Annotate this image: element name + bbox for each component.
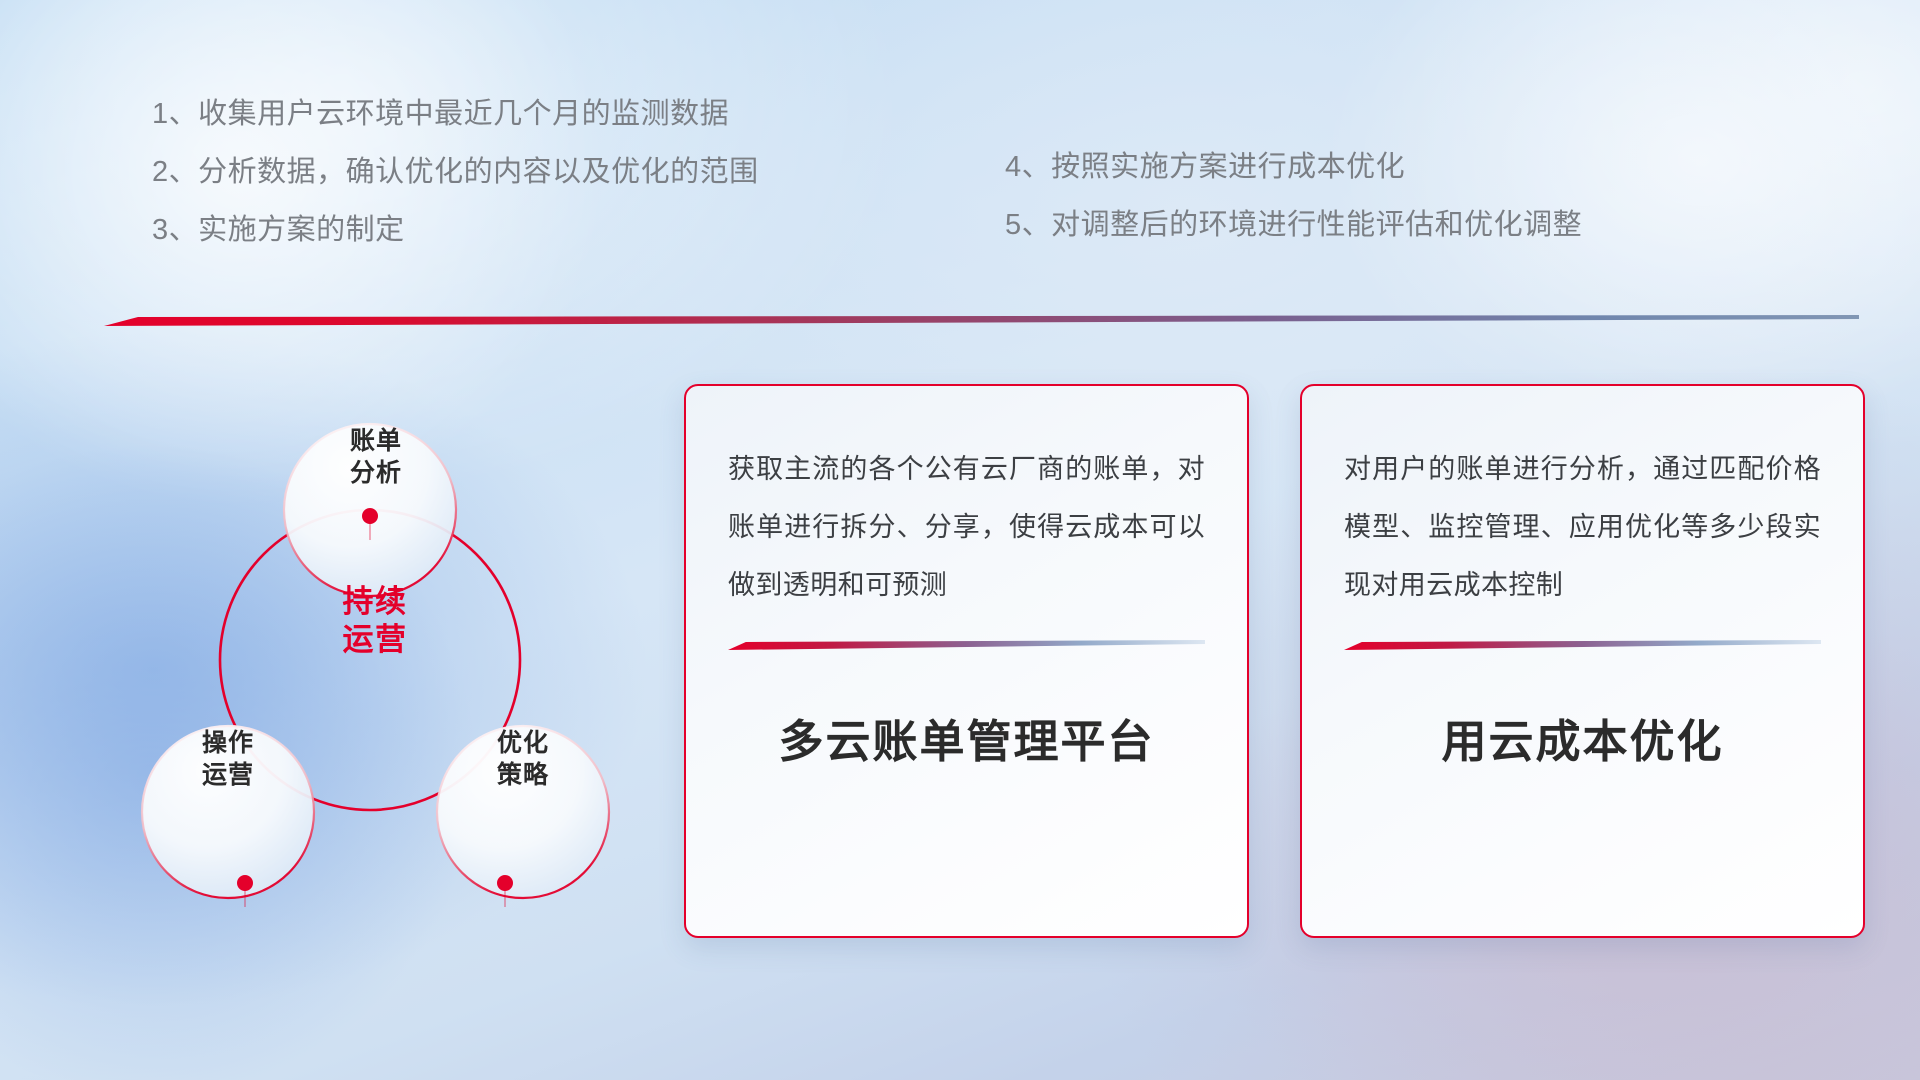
section-divider [104,315,1859,327]
card-divider [1344,640,1821,651]
card-cloud-cost-optimization[interactable]: 对用户的账单进行分析，通过匹配价格模型、监控管理、应用优化等多少段实现对用云成本… [1300,384,1865,938]
card-body-text: 对用户的账单进行分析，通过匹配价格模型、监控管理、应用优化等多少段实现对用云成本… [1344,440,1821,614]
card-title: 多云账单管理平台 [728,705,1205,770]
step-item-4: 4、按照实施方案进行成本优化 [1005,153,1582,182]
ring-node-bottom-right [497,875,513,891]
card-multi-cloud-billing[interactable]: 获取主流的各个公有云厂商的账单，对账单进行拆分、分享，使得云成本可以做到透明和可… [684,384,1249,938]
card-body-text: 获取主流的各个公有云厂商的账单，对账单进行拆分、分享，使得云成本可以做到透明和可… [728,440,1205,614]
bubble-optimization-strategy [437,726,609,898]
steps-list-right: 4、按照实施方案进行成本优化 5、对调整后的环境进行性能评估和优化调整 [1005,153,1582,269]
continuous-operation-diagram: 账单 分析 操作 运营 优化 策略 持续 运营 [100,350,640,950]
ring-node-top [362,508,378,524]
center-label-continuous-operation: 持续 运营 [285,583,465,659]
step-item-2: 2、分析数据，确认优化的内容以及优化的范围 [152,158,759,187]
center-label-line-1: 持续 [285,583,465,621]
card-divider [728,640,1205,651]
step-item-5: 5、对调整后的环境进行性能评估和优化调整 [1005,211,1582,240]
center-label-line-2: 运营 [285,621,465,659]
steps-list-left: 1、收集用户云环境中最近几个月的监测数据 2、分析数据，确认优化的内容以及优化的… [152,100,759,274]
step-item-1: 1、收集用户云环境中最近几个月的监测数据 [152,100,759,129]
card-title: 用云成本优化 [1344,705,1821,770]
slide-canvas: 1、收集用户云环境中最近几个月的监测数据 2、分析数据，确认优化的内容以及优化的… [0,0,1920,1080]
ring-node-bottom-left [237,875,253,891]
bubble-operations [142,726,314,898]
step-item-3: 3、实施方案的制定 [152,216,759,245]
